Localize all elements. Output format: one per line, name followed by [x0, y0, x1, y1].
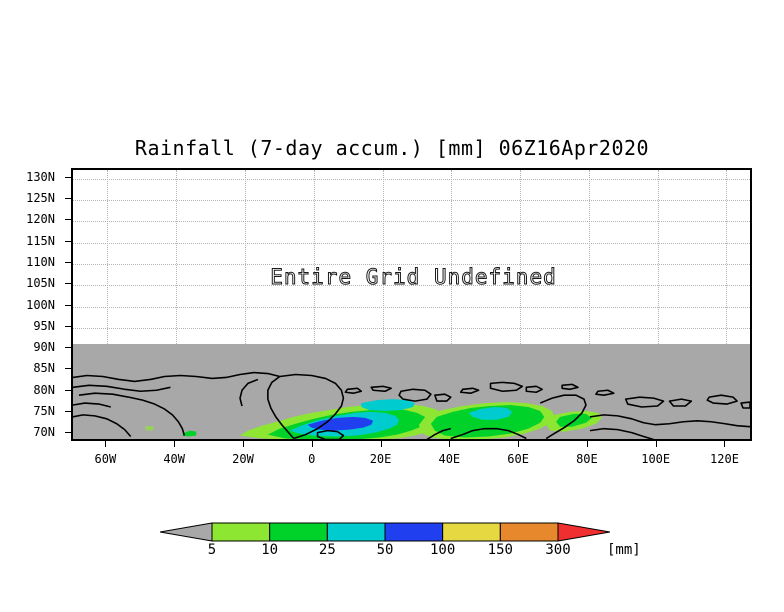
gridline-vertical — [383, 170, 385, 344]
y-axis-tick — [65, 283, 71, 284]
y-axis-tick — [65, 326, 71, 327]
y-axis-tick — [65, 198, 71, 199]
y-axis-tick-label: 85N — [33, 361, 55, 375]
x-axis-tick — [449, 441, 450, 447]
colorbar-swatch — [327, 523, 385, 541]
y-axis-tick-label: 80N — [33, 383, 55, 397]
gridline-horizontal — [73, 328, 750, 330]
undefined-grid-region — [73, 170, 750, 344]
gridline-horizontal — [73, 307, 750, 309]
y-axis-tick — [65, 390, 71, 391]
y-axis-tick — [65, 305, 71, 306]
x-axis-tick — [724, 441, 725, 447]
x-axis-tick — [587, 441, 588, 447]
gridline-vertical — [726, 170, 728, 344]
x-axis-tick — [518, 441, 519, 447]
gridline-vertical — [520, 170, 522, 344]
colorbar-units-label: [mm] — [607, 542, 641, 558]
y-axis-tick — [65, 368, 71, 369]
colorbar-swatch — [385, 523, 443, 541]
x-axis-tick-label: 20E — [370, 452, 392, 466]
colorbar-swatch — [212, 523, 270, 541]
colorbar-arrow-low — [160, 523, 212, 541]
colorbar-tick-label: 25 — [319, 542, 336, 558]
x-axis-tick-label: 60W — [95, 452, 117, 466]
map-svg — [73, 344, 750, 439]
colorbar-swatch — [500, 523, 558, 541]
page-title: Rainfall (7-day accum.) [mm] 06Z16Apr202… — [0, 136, 784, 160]
y-axis-tick-label: 125N — [26, 191, 55, 205]
x-axis-tick-label: 80E — [576, 452, 598, 466]
y-axis-tick-label: 75N — [33, 404, 55, 418]
y-axis-tick-label: 105N — [26, 276, 55, 290]
plot-area: Entire Grid Undefined — [71, 168, 752, 441]
gridline-horizontal — [73, 243, 750, 245]
gridline-vertical — [658, 170, 660, 344]
x-axis-tick-label: 0 — [308, 452, 315, 466]
y-axis: 130N125N120N115N110N105N100N95N90N85N80N… — [0, 0, 71, 612]
colorbar: [mm] 5102550100150300 — [160, 520, 610, 566]
y-axis-tick-label: 115N — [26, 234, 55, 248]
gridlines — [73, 170, 750, 344]
gridline-horizontal — [73, 221, 750, 223]
gridline-vertical — [589, 170, 591, 344]
y-axis-tick — [65, 347, 71, 348]
y-axis-tick — [65, 411, 71, 412]
x-axis-tick-label: 40W — [163, 452, 185, 466]
colorbar-tick-label: 150 — [488, 542, 513, 558]
colorbar-tick-label: 5 — [208, 542, 216, 558]
colorbar-tick-label: 300 — [545, 542, 570, 558]
gridline-vertical — [451, 170, 453, 344]
y-axis-tick — [65, 262, 71, 263]
colorbar-swatch — [270, 523, 328, 541]
x-axis-tick-label: 40E — [438, 452, 460, 466]
colorbar-arrow-high — [558, 523, 610, 541]
map-region — [73, 344, 750, 439]
x-axis-tick — [312, 441, 313, 447]
gridline-vertical — [314, 170, 316, 344]
y-axis-tick — [65, 432, 71, 433]
x-axis-tick-label: 120E — [710, 452, 739, 466]
gridline-horizontal — [73, 179, 750, 181]
y-axis-tick-label: 130N — [26, 170, 55, 184]
x-axis-tick-label: 20W — [232, 452, 254, 466]
x-axis-tick — [243, 441, 244, 447]
y-axis-tick-label: 110N — [26, 255, 55, 269]
y-axis-tick-label: 120N — [26, 212, 55, 226]
colorbar-swatch — [443, 523, 501, 541]
colorbar-tick-label: 50 — [377, 542, 394, 558]
y-axis-tick-label: 70N — [33, 425, 55, 439]
colorbar-tick-label: 10 — [261, 542, 278, 558]
x-axis-tick — [381, 441, 382, 447]
undefined-grid-label: Entire Grid Undefined — [73, 265, 752, 289]
y-axis-tick — [65, 241, 71, 242]
gridline-vertical — [107, 170, 109, 344]
x-axis-tick — [105, 441, 106, 447]
x-axis-tick-label: 100E — [641, 452, 670, 466]
y-axis-tick-label: 100N — [26, 298, 55, 312]
gridline-vertical — [245, 170, 247, 344]
colorbar-swatches — [160, 520, 610, 544]
x-axis-tick — [174, 441, 175, 447]
colorbar-tick-label: 100 — [430, 542, 455, 558]
gridline-vertical — [176, 170, 178, 344]
gridline-horizontal — [73, 200, 750, 202]
rainfall-shading — [145, 395, 602, 439]
y-axis-tick-label: 95N — [33, 319, 55, 333]
x-axis: 60W40W20W020E40E60E80E100E120E — [0, 441, 784, 481]
x-axis-tick-label: 60E — [507, 452, 529, 466]
y-axis-tick-label: 90N — [33, 340, 55, 354]
y-axis-tick — [65, 177, 71, 178]
y-axis-tick — [65, 219, 71, 220]
x-axis-tick — [656, 441, 657, 447]
